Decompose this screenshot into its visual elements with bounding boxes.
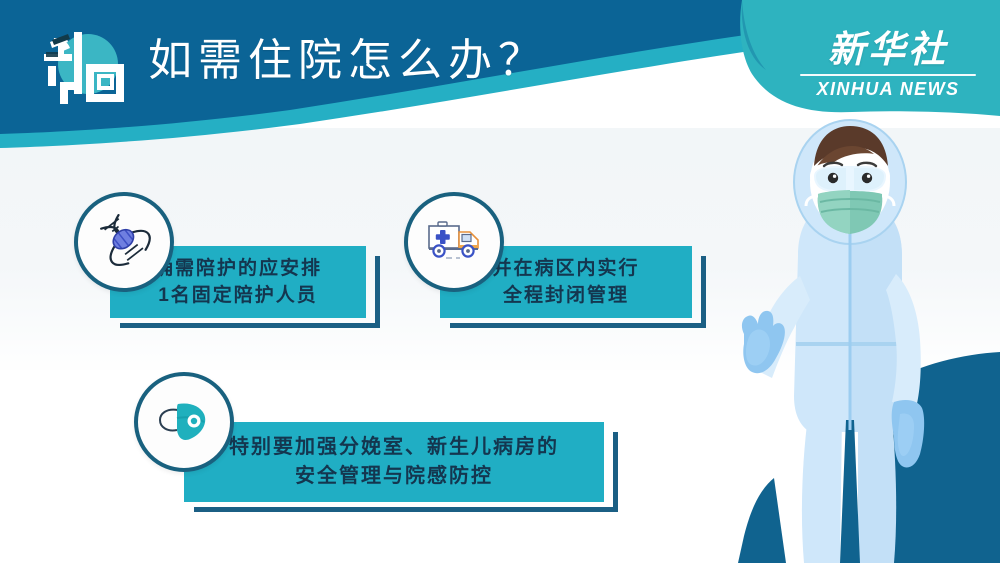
xinhua-logo-divider: [800, 74, 976, 76]
card-2-line-1: 并在病区内实行: [492, 255, 639, 282]
info-card-3: 特别要加强分娩室、新生儿病房的 安全管理与院感防控: [134, 372, 654, 527]
card-2-line-2: 全程封闭管理: [503, 282, 629, 309]
n95-mask-icon: [156, 396, 212, 449]
card-1-icon-circle: [74, 192, 174, 292]
xinhua-logo-cn: 新华社: [798, 28, 978, 72]
xinhua-news-logo: 新华社 XINHUA NEWS: [798, 28, 978, 100]
dna-helix-icon: [95, 211, 153, 274]
card-1-line-1: 确需陪护的应安排: [154, 255, 322, 282]
ambulance-icon: [426, 218, 482, 267]
card-3-icon-circle: [134, 372, 234, 472]
xinhua-logo-en: XINHUA NEWS: [798, 79, 978, 100]
info-card-1: 确需陪护的应安排 1名固定陪护人员: [74, 192, 404, 342]
card-2-icon-circle: [404, 192, 504, 292]
card-3-line-2: 安全管理与院感防控: [295, 462, 493, 491]
kepu-logo: [36, 24, 132, 110]
page-title: 如需住院怎么办？: [148, 32, 548, 90]
card-3-line-1: 特别要加强分娩室、新生儿病房的: [229, 433, 559, 462]
infographic-canvas: 如需住院怎么办？ 新华社 XINHUA NEWS 确需陪护的应安排 1名固定陪护…: [0, 0, 1000, 563]
header: 如需住院怎么办？ 新华社 XINHUA NEWS: [0, 0, 1000, 175]
card-1-line-2: 1名固定陪护人员: [158, 282, 318, 309]
info-card-2: 并在病区内实行 全程封闭管理: [404, 192, 724, 342]
card-3-panel: 特别要加强分娩室、新生儿病房的 安全管理与院感防控: [184, 422, 604, 502]
